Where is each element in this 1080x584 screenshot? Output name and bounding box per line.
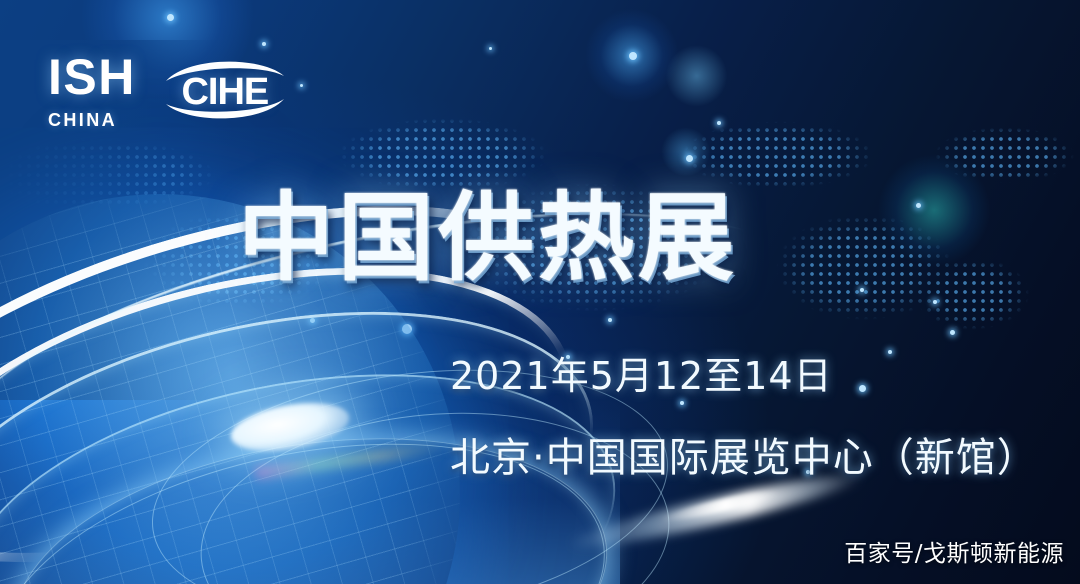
ish-china-subtitle: CHINA xyxy=(48,111,136,129)
sparkle-dot xyxy=(686,155,693,162)
sparkle-dot xyxy=(489,47,492,50)
sparkle-dot xyxy=(916,203,921,208)
sparkle-dot xyxy=(717,121,721,125)
page-title: 中国供热展 xyxy=(238,188,738,290)
sparkle-dot xyxy=(950,330,955,335)
cihe-logo: CIHE xyxy=(162,54,288,126)
sparkle-dot xyxy=(262,42,266,46)
sparkle-dot xyxy=(629,52,637,60)
logo-lockup: ISH CHINA CIHE xyxy=(48,52,288,129)
event-date: 2021年5月12至14日 xyxy=(450,345,833,400)
sparkle-dot xyxy=(888,350,892,354)
sparkle-dot xyxy=(860,288,864,292)
cihe-wordmark: CIHE xyxy=(162,71,288,114)
sparkle-dot xyxy=(167,14,174,21)
watermark-credit: 百家号/戈斯顿新能源 xyxy=(844,534,1064,568)
ish-china-logo: ISH CHINA xyxy=(48,52,136,129)
sparkle-dot xyxy=(933,300,937,304)
sparkle-dot xyxy=(300,84,303,87)
event-venue: 北京·中国国际展览中心（新馆） xyxy=(450,425,1038,483)
ish-wordmark: ISH xyxy=(48,52,136,102)
sparkle-dot xyxy=(859,385,866,392)
event-poster: ISH CHINA CIHE 中国供热展 2021年5月12至14日 北京·中国… xyxy=(0,0,1080,584)
